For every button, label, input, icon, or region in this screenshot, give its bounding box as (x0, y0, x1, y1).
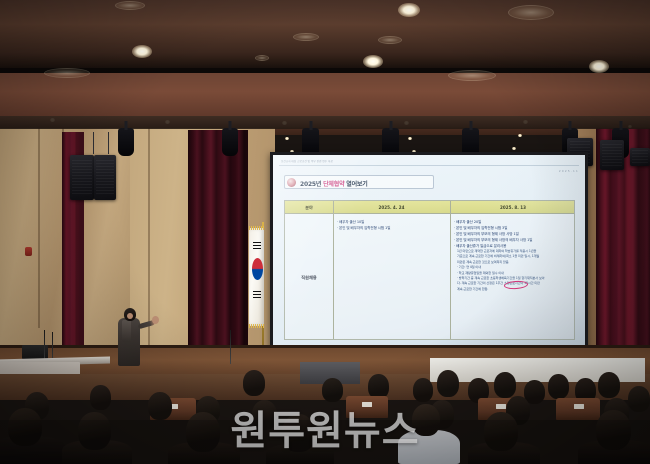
table-row-label: 직원채용 (285, 214, 333, 341)
seal-icon (287, 178, 296, 187)
audience-head (494, 372, 516, 398)
trigram-mark (253, 245, 261, 246)
projector-screen[interactable]: 보건교사 대상 근로조건 및 복무 관련 연수 자료 2 0 2 5 . 1 1… (273, 155, 585, 358)
ceiling-downlight-dim (378, 36, 402, 44)
taeguk-symbol (252, 258, 263, 280)
wall-seam (148, 128, 150, 348)
auditorium-seat (346, 396, 388, 418)
wall-monitor-right (630, 148, 650, 166)
curtain-fold-texture (188, 130, 248, 350)
ceiling-downlight-dim (508, 5, 554, 20)
slide-title-accent: 단체협약 (323, 181, 344, 188)
ceiling-downlight-dim (44, 68, 90, 78)
audience-head (598, 372, 620, 398)
ceiling-downlight (363, 55, 383, 68)
hanging-speaker-right-b (600, 140, 624, 170)
seat-number-tag (362, 402, 372, 407)
stage-spotlight (118, 128, 134, 156)
ceiling-pinlight (518, 134, 522, 137)
audience-depth-shade (0, 420, 650, 464)
presenter-hand (152, 316, 159, 324)
list-item: · 본인 및 배우자의 입학전형 시험 1일 (337, 225, 447, 231)
ceiling-pinlight (285, 137, 289, 140)
table-col-header-2: 2025. 8. 13 (450, 201, 576, 214)
slide-header-note: 보건교사 대상 근로조건 및 복무 관련 연수 자료 (281, 159, 333, 163)
stage-spotlight (222, 128, 238, 156)
stage-curtain-center (188, 130, 248, 350)
ceiling-downlight (589, 60, 609, 73)
speaker-grille (96, 160, 114, 194)
presenter-face (127, 313, 133, 319)
seat-number-tag (496, 404, 506, 409)
wall-seam (38, 128, 40, 328)
ceiling-downlight-dim (448, 70, 496, 81)
ceiling-pinlight (512, 147, 516, 150)
hanging-speaker-left (70, 155, 94, 200)
audience-head (148, 392, 172, 420)
seat-number-tag (574, 404, 584, 409)
audience-head (628, 386, 650, 412)
slide-title: 2025년 단체협약 열어보기 (300, 179, 368, 188)
slide-title-suffix: 열어보기 (344, 181, 367, 188)
audience-head (90, 385, 111, 410)
presenter-scarf (122, 320, 131, 342)
audience-head (413, 378, 433, 402)
audience-head (243, 370, 265, 396)
ceiling-downlight-dim (115, 1, 145, 10)
ceiling-pinlight (408, 137, 412, 140)
table-cell-right: · 배우자 출산 20일 · 본인 및 배우자의 입학전형 시험 3일 · 본인… (450, 214, 576, 341)
auditorium-seat (556, 398, 600, 420)
speaker-grille (72, 160, 91, 194)
speaker-rigging (108, 132, 109, 154)
flag-fringe-bottom (249, 324, 264, 328)
audience-head (437, 370, 459, 397)
trigram-mark (253, 294, 261, 295)
ceiling-downlight-dim (293, 33, 319, 41)
fire-alarm-icon (25, 247, 32, 256)
table-cell-left: · 배우자 출산 10일 · 본인 및 배우자의 입학전형 시험 1일 (333, 214, 450, 341)
audience-head (548, 374, 569, 399)
table-col-header-0: 분야 (285, 201, 333, 214)
microphone-stand (230, 330, 231, 364)
trigram-mark (253, 291, 261, 292)
speaker-grille (632, 150, 648, 164)
trigram-mark (253, 242, 261, 243)
slide-title-prefix: 2025년 (300, 181, 323, 188)
hanging-speaker-left-b (94, 155, 116, 200)
table-col-header-1: 2025. 4. 24 (333, 201, 450, 214)
auditorium-photo: 보건교사 대상 근로조건 및 복무 관련 연수 자료 2 0 2 5 . 1 1… (0, 0, 650, 464)
audience-head (322, 378, 343, 402)
trigram-mark (253, 248, 261, 249)
slide-page-marker: 2 0 2 5 . 1 1 (559, 170, 578, 173)
lighting-truss (0, 116, 650, 129)
ceiling-downlight (398, 3, 420, 17)
trigram-mark (253, 297, 261, 298)
slide-comparison-table: 분야 2025. 4. 24 2025. 8. 13 직원채용 · 배우자 출산… (284, 200, 575, 340)
slide-header-rule (279, 165, 579, 166)
flag-fringe-top (249, 226, 264, 230)
speaker-rigging (93, 132, 94, 154)
ceiling-downlight-dim (255, 55, 269, 61)
ceiling-downlight (132, 45, 152, 58)
speaker-grille (602, 144, 621, 167)
